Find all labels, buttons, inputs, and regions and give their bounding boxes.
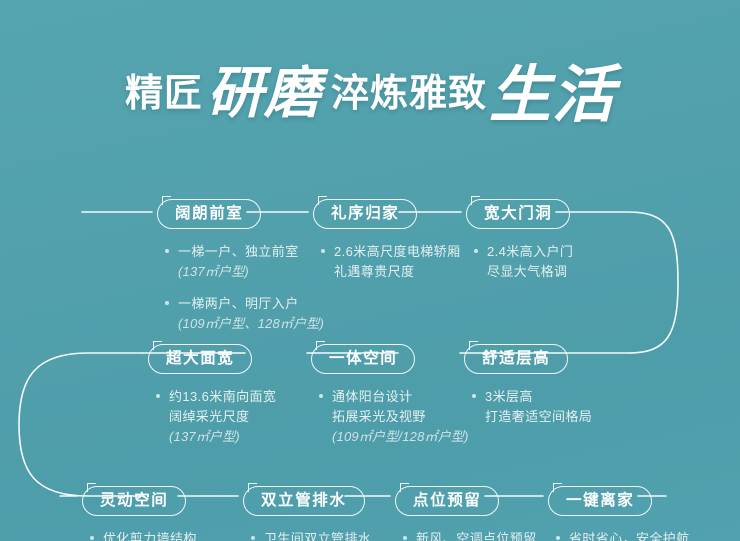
page-title: 精匠研磨淬炼雅致生活 <box>0 34 740 124</box>
bullet-subline: (137㎡户型) <box>178 262 324 282</box>
bullet-line: 阔绰采光尺度 <box>169 407 276 427</box>
list-item: 2.6米高尺度电梯轿厢 礼遇尊贵尺度 <box>319 242 460 282</box>
list-item: 新风、空调点位预留 便于后期装修 <box>401 529 537 541</box>
feature-title-pill[interactable]: 宽大门洞 <box>466 199 570 229</box>
bullet-subline: (109㎡户型、128㎡户型) <box>178 314 324 334</box>
feature-card-yitikongjian: 一体空间 通体阳台设计 拓展采光及视野 (109㎡户型/128㎡户型) <box>311 344 469 449</box>
feature-card-chaodamiankuan: 超大面宽 约13.6米南向面宽 阔绰采光尺度 (137㎡户型) <box>148 344 276 449</box>
feature-title-pill[interactable]: 点位预留 <box>395 486 499 516</box>
feature-card-kuandamendong: 宽大门洞 2.4米高入户门 尽显大气格调 <box>466 199 573 284</box>
feature-card-kuolangqianshi: 阔朗前室 一梯一户、独立前室 (137㎡户型) 一梯两户、明厅入户 (109㎡户… <box>157 199 324 336</box>
list-item: 省时省心，安全护航 <box>554 529 690 541</box>
list-item: 一梯两户、明厅入户 (109㎡户型、128㎡户型) <box>163 294 324 334</box>
feature-title-pill[interactable]: 灵动空间 <box>82 486 186 516</box>
bullet-line: 通体阳台设计 <box>332 387 469 407</box>
feature-bullet-list: 一梯一户、独立前室 (137㎡户型) 一梯两户、明厅入户 (109㎡户型、128… <box>157 242 324 334</box>
feature-bullet-list: 通体阳台设计 拓展采光及视野 (109㎡户型/128㎡户型) <box>311 387 469 447</box>
feature-card-shushicenggao: 舒适层高 3米层高 打造奢适空间格局 <box>464 344 592 429</box>
feature-bullet-list: 优化剪力墙结构 实现空间多变 <box>82 529 197 541</box>
feature-title-pill[interactable]: 一体空间 <box>311 344 415 374</box>
feature-title-pill[interactable]: 阔朗前室 <box>157 199 261 229</box>
feature-title-pill[interactable]: 礼序归家 <box>313 199 417 229</box>
feature-bullet-list: 2.6米高尺度电梯轿厢 礼遇尊贵尺度 <box>313 242 460 282</box>
bullet-subline: (137㎡户型) <box>169 427 276 447</box>
feature-bullet-list: 省时省心，安全护航 <box>548 529 690 541</box>
list-item: 3米层高 打造奢适空间格局 <box>470 387 592 427</box>
bullet-line: 一梯两户、明厅入户 <box>178 294 324 314</box>
bullet-line: 省时省心，安全护航 <box>569 529 690 541</box>
connector-left-uturn <box>19 353 144 496</box>
feature-bullet-list: 2.4米高入户门 尽显大气格调 <box>466 242 573 282</box>
title-segment-2: 研磨 <box>207 48 321 129</box>
bullet-line: 3米层高 <box>485 387 592 407</box>
list-item: 约13.6米南向面宽 阔绰采光尺度 (137㎡户型) <box>154 387 276 447</box>
feature-bullet-list: 3米层高 打造奢适空间格局 <box>464 387 592 427</box>
title-segment-4: 生活 <box>489 44 615 134</box>
feature-bullet-list: 约13.6米南向面宽 阔绰采光尺度 (137㎡户型) <box>148 387 276 447</box>
bullet-line: 约13.6米南向面宽 <box>169 387 276 407</box>
feature-card-yijianlijia: 一键离家 省时省心，安全护航 <box>548 486 690 541</box>
feature-title-pill[interactable]: 一键离家 <box>548 486 652 516</box>
feature-title-pill[interactable]: 舒适层高 <box>464 344 568 374</box>
bullet-line: 一梯一户、独立前室 <box>178 242 324 262</box>
bullet-line: 卫生间双立管排水 <box>264 529 371 541</box>
title-segment-1: 精匠 <box>125 62 203 117</box>
bullet-line: 2.6米高尺度电梯轿厢 <box>334 242 460 262</box>
feature-title-pill[interactable]: 超大面宽 <box>148 344 252 374</box>
feature-card-lingdongkongjian: 灵动空间 优化剪力墙结构 实现空间多变 <box>82 486 197 541</box>
feature-title-pill[interactable]: 双立管排水 <box>243 486 365 516</box>
feature-card-shuangliguanpaishui: 双立管排水 卫生间双立管排水 有效防止异味 <box>243 486 371 541</box>
connector-right-uturn <box>556 212 678 353</box>
bullet-line: 礼遇尊贵尺度 <box>334 262 460 282</box>
title-segment-3: 淬炼雅致 <box>331 62 487 117</box>
bullet-line: 打造奢适空间格局 <box>485 407 592 427</box>
list-item: 优化剪力墙结构 实现空间多变 <box>88 529 197 541</box>
bullet-line: 新风、空调点位预留 <box>416 529 537 541</box>
bullet-line: 拓展采光及视野 <box>332 407 469 427</box>
bullet-line: 2.4米高入户门 <box>487 242 573 262</box>
list-item: 一梯一户、独立前室 (137㎡户型) <box>163 242 324 282</box>
feature-bullet-list: 新风、空调点位预留 便于后期装修 <box>395 529 537 541</box>
bullet-line: 优化剪力墙结构 <box>103 529 197 541</box>
feature-bullet-list: 卫生间双立管排水 有效防止异味 <box>243 529 371 541</box>
feature-card-lixuguijia: 礼序归家 2.6米高尺度电梯轿厢 礼遇尊贵尺度 <box>313 199 460 284</box>
bullet-subline: (109㎡户型/128㎡户型) <box>332 427 469 447</box>
list-item: 2.4米高入户门 尽显大气格调 <box>472 242 573 282</box>
feature-card-dianweiyuliu: 点位预留 新风、空调点位预留 便于后期装修 <box>395 486 537 541</box>
list-item: 卫生间双立管排水 有效防止异味 <box>249 529 371 541</box>
bullet-line: 尽显大气格调 <box>487 262 573 282</box>
list-item: 通体阳台设计 拓展采光及视野 (109㎡户型/128㎡户型) <box>317 387 469 447</box>
